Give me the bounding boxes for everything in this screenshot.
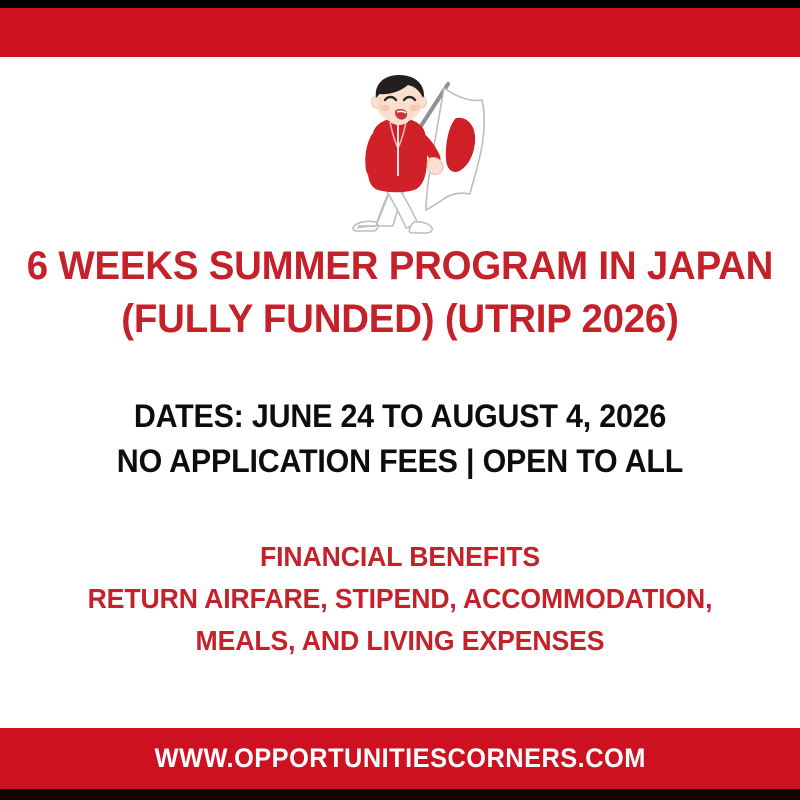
fees-text: NO APPLICATION FEES | OPEN TO ALL bbox=[20, 439, 780, 484]
website-url: WWW.OPPORTUNITIESCORNERS.COM bbox=[154, 743, 645, 774]
financial-benefits-section: FINANCIAL BENEFITS RETURN AIRFARE, STIPE… bbox=[0, 536, 800, 662]
dates-text: DATES: JUNE 24 TO AUGUST 4, 2026 bbox=[20, 394, 780, 439]
person-waving-japanese-flag-icon bbox=[330, 72, 490, 237]
title-line-2: (FULLY FUNDED) (UTRIP 2026) bbox=[16, 293, 784, 346]
top-edge-strip bbox=[0, 0, 800, 8]
poster-content: 6 WEEKS SUMMER PROGRAM IN JAPAN (FULLY F… bbox=[0, 240, 800, 662]
poster-title: 6 WEEKS SUMMER PROGRAM IN JAPAN (FULLY F… bbox=[0, 240, 800, 346]
poster-canvas: 6 WEEKS SUMMER PROGRAM IN JAPAN (FULLY F… bbox=[0, 0, 800, 800]
benefits-heading: FINANCIAL BENEFITS bbox=[20, 536, 780, 578]
bottom-red-band: WWW.OPPORTUNITIESCORNERS.COM bbox=[0, 728, 800, 789]
benefits-line-1: RETURN AIRFARE, STIPEND, ACCOMMODATION, bbox=[20, 578, 780, 620]
title-line-1: 6 WEEKS SUMMER PROGRAM IN JAPAN bbox=[16, 240, 784, 293]
top-red-band bbox=[0, 8, 800, 57]
benefits-line-2: MEALS, AND LIVING EXPENSES bbox=[20, 620, 780, 662]
bottom-edge-strip bbox=[0, 789, 800, 800]
program-details: DATES: JUNE 24 TO AUGUST 4, 2026 NO APPL… bbox=[0, 394, 800, 484]
